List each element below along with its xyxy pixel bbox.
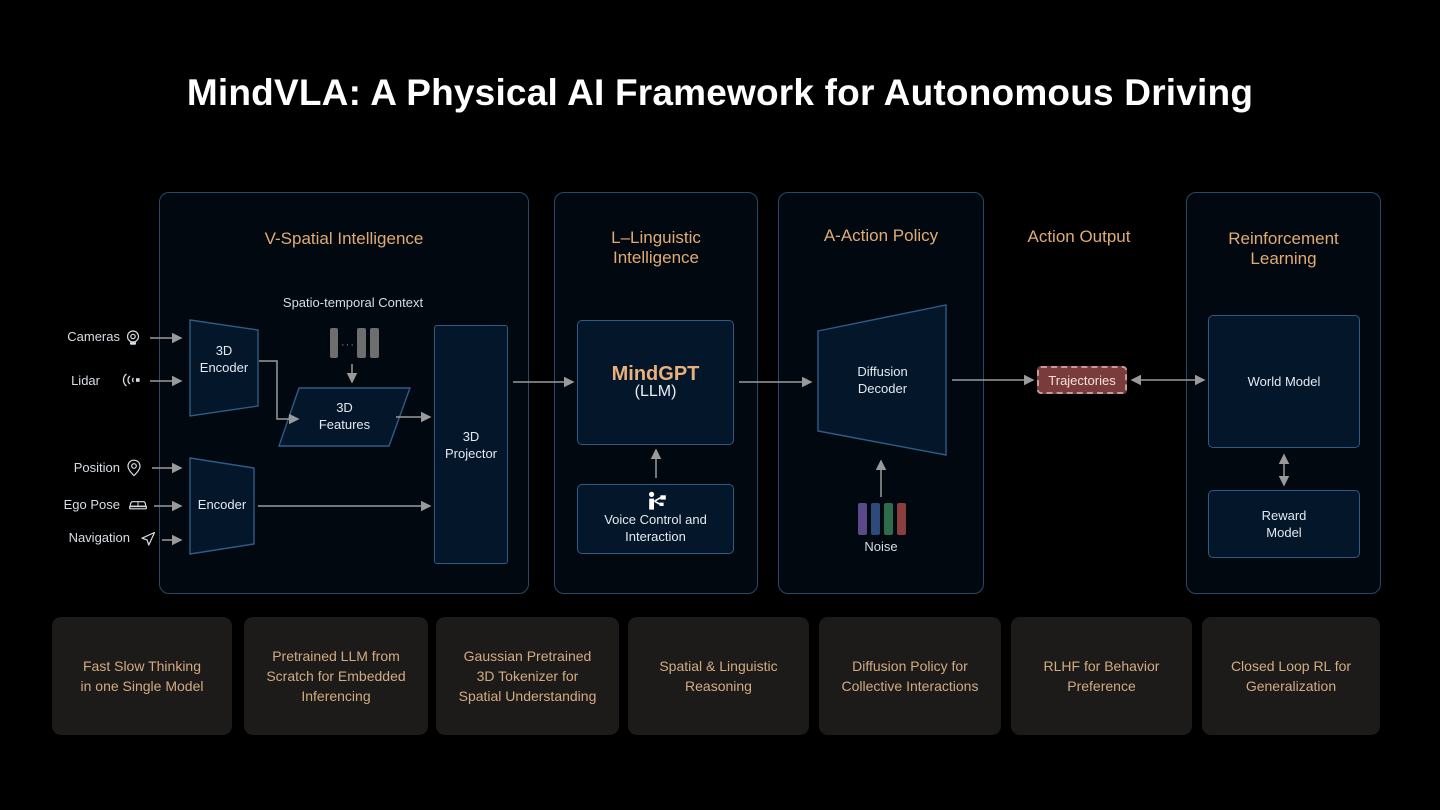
feature-card-line2: Collective Interactions — [842, 676, 979, 696]
mindgpt-sublabel: (LLM) — [635, 383, 677, 400]
input-label-navigation: Navigation — [0, 530, 130, 545]
context-token-bar — [370, 328, 379, 358]
panel-title-linguistic-line1: L–Linguistic — [555, 228, 757, 248]
navigation-arrow-icon — [139, 530, 157, 548]
context-token-bar — [357, 328, 366, 358]
voice-control-block: Voice Control and Interaction — [577, 484, 734, 554]
feature-card: Spatial & Linguistic Reasoning — [628, 617, 809, 735]
diffusion-decoder-label-line2: Decoder — [815, 380, 950, 397]
mindgpt-label: MindGPT — [612, 366, 700, 383]
feature-card-line1: Spatial & Linguistic — [659, 656, 777, 676]
feature-card: Pretrained LLM from Scratch for Embedded… — [244, 617, 428, 735]
feature-card-line1: Closed Loop RL for — [1231, 656, 1351, 676]
3d-projector-block: 3D Projector — [434, 325, 508, 564]
feature-card-line2: Preference — [1044, 676, 1160, 696]
3d-features-block: 3D Features — [277, 386, 412, 448]
voice-control-label-line1: Voice Control and — [604, 511, 707, 528]
location-pin-icon — [126, 459, 144, 477]
feature-card-line2: 3D Tokenizer for — [459, 666, 597, 686]
car-icon — [128, 497, 146, 515]
reward-model-block: Reward Model — [1208, 490, 1360, 558]
feature-card-line3: Spatial Understanding — [459, 686, 597, 706]
mindgpt-block: MindGPT (LLM) — [577, 320, 734, 445]
feature-card-line3: Inferencing — [266, 686, 405, 706]
feature-card-line2: Scratch for Embedded — [266, 666, 405, 686]
3d-features-label-line1: 3D — [277, 399, 412, 416]
input-label-lidar: Lidar — [20, 373, 100, 388]
diagram-canvas: MindVLA: A Physical AI Framework for Aut… — [0, 0, 1440, 810]
context-token-ellipsis: ··· — [341, 339, 355, 351]
voice-control-label-line2: Interaction — [625, 528, 686, 545]
3d-encoder-block: 3D Encoder — [186, 318, 262, 418]
reward-model-label-line2: Model — [1266, 524, 1301, 541]
3d-encoder-label-line2: Encoder — [186, 359, 262, 376]
panel-title-action-output: Action Output — [1004, 227, 1154, 247]
panel-title-spatial: V-Spatial Intelligence — [160, 229, 528, 249]
feature-card-line1: Pretrained LLM from — [266, 646, 405, 666]
noise-bar — [897, 503, 906, 535]
panel-title-rl-line1: Reinforcement — [1187, 229, 1380, 249]
3d-projector-label-line1: 3D — [463, 428, 480, 445]
reward-model-label-line1: Reward — [1262, 507, 1307, 524]
noise-bar — [871, 503, 880, 535]
diffusion-decoder-block: Diffusion Decoder — [815, 303, 950, 458]
3d-encoder-label-line1: 3D — [186, 342, 262, 359]
lidar-icon — [122, 372, 140, 390]
context-token-bar — [330, 328, 338, 358]
voice-control-icon — [578, 491, 735, 511]
input-label-ego-pose: Ego Pose — [10, 497, 120, 512]
feature-card: Gaussian Pretrained 3D Tokenizer for Spa… — [436, 617, 619, 735]
camera-icon — [124, 329, 142, 347]
diffusion-decoder-label-line1: Diffusion — [815, 363, 950, 380]
encoder-block: Encoder — [186, 456, 258, 556]
feature-card-line1: Gaussian Pretrained — [459, 646, 597, 666]
3d-features-label-line2: Features — [277, 416, 412, 433]
feature-card-line2: Reasoning — [659, 676, 777, 696]
noise-label: Noise — [831, 538, 931, 555]
noise-bar — [884, 503, 893, 535]
feature-card-line1: RLHF for Behavior — [1044, 656, 1160, 676]
feature-card-line2: Generalization — [1231, 676, 1351, 696]
input-label-position: Position — [20, 460, 120, 475]
feature-card: Fast Slow Thinking in one Single Model — [52, 617, 232, 735]
page-title: MindVLA: A Physical AI Framework for Aut… — [0, 72, 1440, 114]
trajectories-badge: Trajectories — [1037, 366, 1127, 394]
panel-title-action: A-Action Policy — [779, 226, 983, 246]
feature-card-line1: Diffusion Policy for — [842, 656, 979, 676]
feature-card: Closed Loop RL for Generalization — [1202, 617, 1380, 735]
feature-card-line1: Fast Slow Thinking — [81, 656, 204, 676]
panel-title-linguistic-line2: Intelligence — [555, 248, 757, 268]
3d-projector-label-line2: Projector — [445, 445, 497, 462]
encoder-label: Encoder — [186, 497, 258, 512]
feature-card-line2: in one Single Model — [81, 676, 204, 696]
noise-bar — [858, 503, 867, 535]
panel-title-rl-line2: Learning — [1187, 249, 1380, 269]
feature-card: Diffusion Policy for Collective Interact… — [819, 617, 1001, 735]
input-label-cameras: Cameras — [20, 329, 120, 344]
world-model-block: World Model — [1208, 315, 1360, 448]
feature-card: RLHF for Behavior Preference — [1011, 617, 1192, 735]
spatio-temporal-context-label: Spatio-temporal Context — [240, 294, 466, 311]
